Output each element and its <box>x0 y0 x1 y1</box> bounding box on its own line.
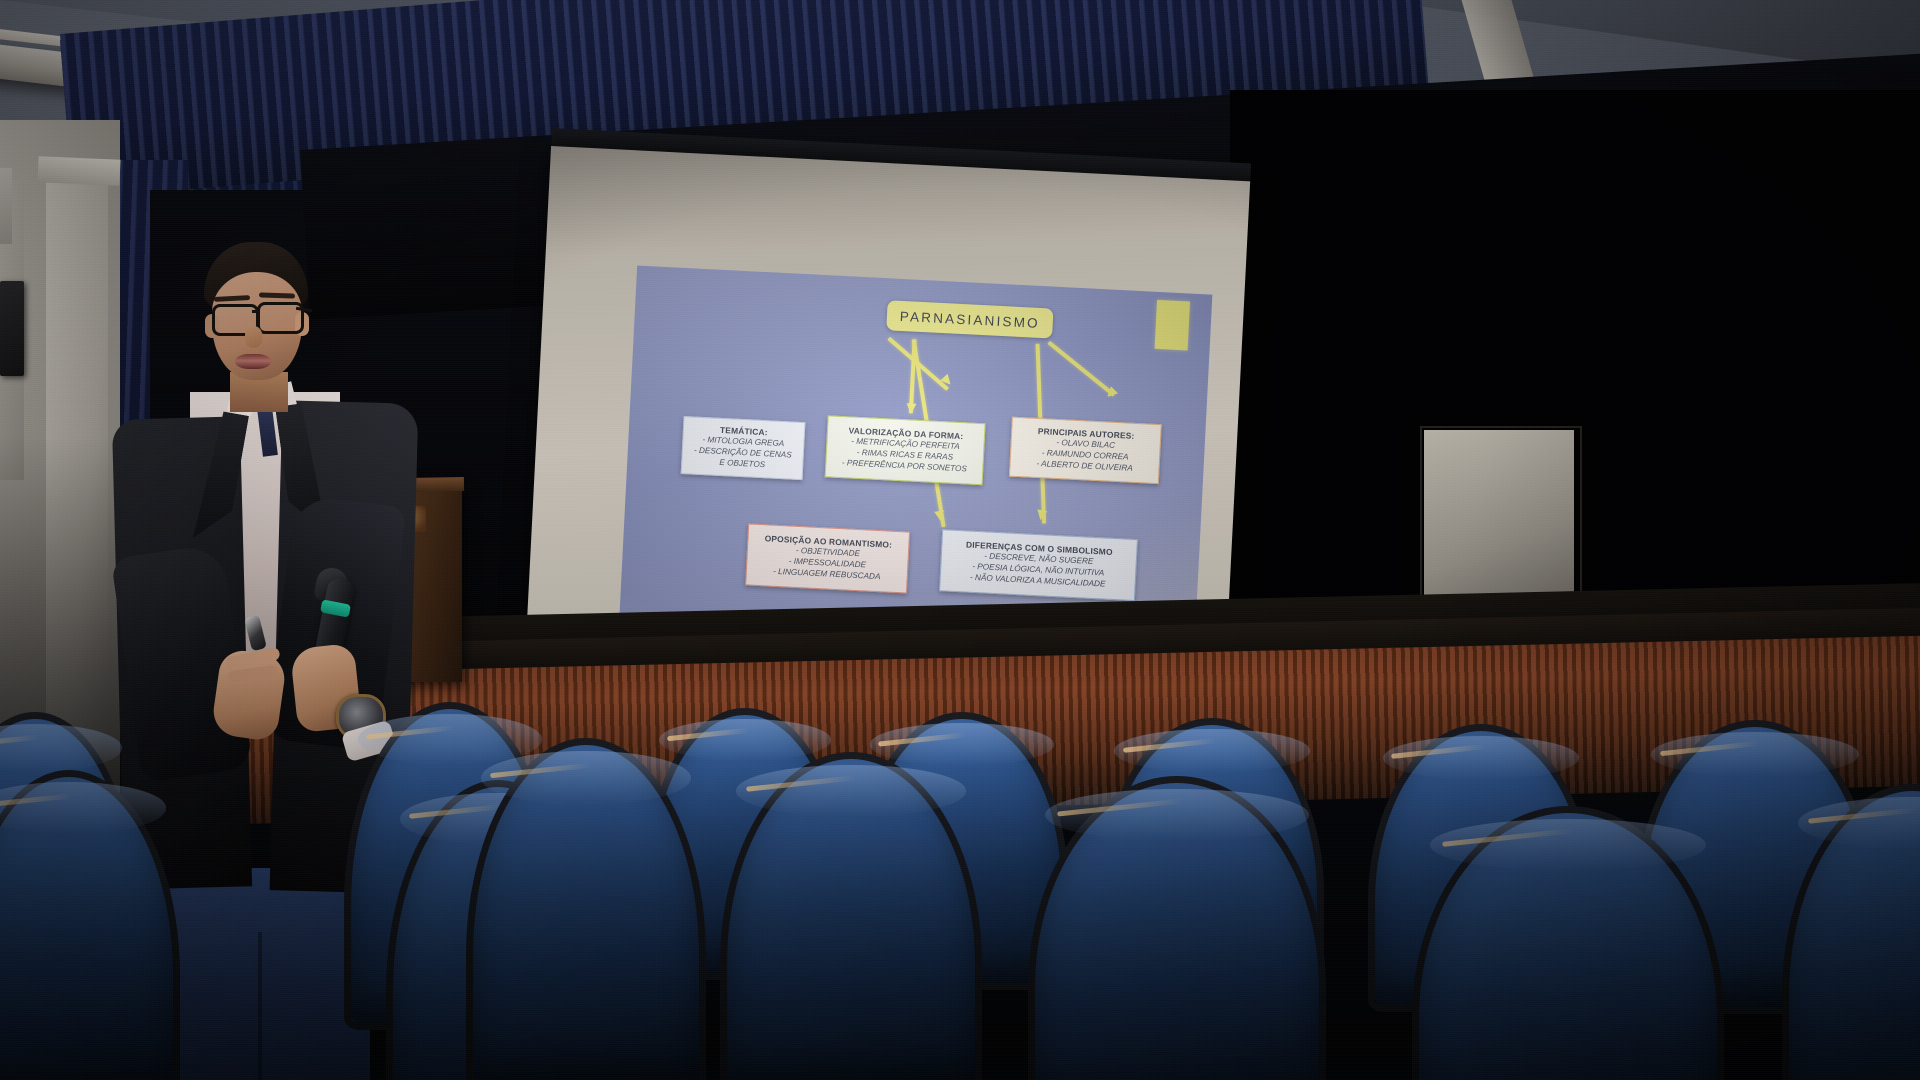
auditorium-chair[interactable] <box>1788 790 1920 1080</box>
slide-decoration-rect <box>1155 300 1190 351</box>
slide-node-valorizacao-da-forma: VALORIZAÇÃO DA FORMA: - METRIFICAÇÃO PER… <box>825 415 986 485</box>
slide-title-node: PARNASIANISMO <box>886 300 1053 338</box>
arrowhead-to-forma <box>906 403 916 413</box>
auditorium-chair[interactable] <box>472 744 700 1080</box>
arrow-to-forma <box>909 339 916 413</box>
arrowhead-to-oposicao <box>934 510 945 521</box>
eyeglasses-bridge <box>252 310 260 313</box>
presenter-trousers <box>154 868 370 1080</box>
projection-screen: PARNASIANISMO TEMÁTICA: - MITOLOGIA GREG… <box>526 128 1251 683</box>
chair-highlight <box>481 751 691 805</box>
slide-title-text: PARNASIANISMO <box>900 308 1041 330</box>
chair-highlight <box>1045 789 1308 842</box>
mouth <box>235 354 271 369</box>
chair-highlight <box>1651 732 1859 777</box>
auditorium-chair[interactable] <box>1418 812 1718 1080</box>
chair-highlight <box>736 765 966 818</box>
chair-highlight <box>1114 729 1309 773</box>
auditorium-chair[interactable] <box>726 758 976 1080</box>
auditorium-scene: PARNASIANISMO TEMÁTICA: - MITOLOGIA GREG… <box>0 0 1920 1080</box>
auditorium-chair[interactable] <box>1034 782 1320 1080</box>
arrow-to-autores <box>1048 341 1116 397</box>
trouser-seam <box>258 932 262 1080</box>
slide-node-principais-autores: PRINCIPAIS AUTORES: - OLAVO BILAC - RAIM… <box>1009 417 1162 485</box>
auditorium-chair[interactable] <box>0 776 174 1080</box>
node-item: E OBJETOS <box>719 458 765 471</box>
arrowhead-to-diferencas <box>1035 509 1047 521</box>
slide-node-tematica: TEMÁTICA: - MITOLOGIA GREGA - DESCRIÇÃO … <box>681 416 806 480</box>
chair-highlight <box>1430 819 1706 872</box>
chair-highlight <box>1383 736 1580 780</box>
projected-slide: PARNASIANISMO TEMÁTICA: - MITOLOGIA GREG… <box>619 265 1212 646</box>
chair-highlight <box>1798 797 1920 850</box>
slide-node-oposicao-ao-romantismo: OPOSIÇÃO AO ROMANTISMO: - OBJETIVIDADE -… <box>745 523 910 593</box>
presentation-board-frame <box>1420 426 1582 606</box>
slide-node-diferencas-com-o-simbolismo: DIFERENÇAS COM O SIMBOLISMO - DESCREVE, … <box>939 529 1138 601</box>
nose <box>245 326 262 348</box>
